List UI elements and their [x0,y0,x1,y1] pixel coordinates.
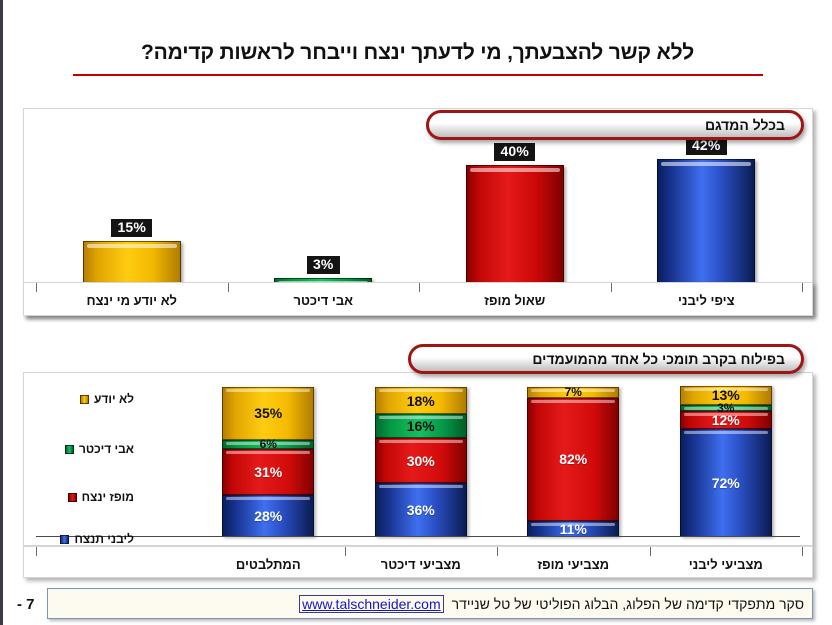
chart2-category-label: מצביעי מופז [497,557,650,572]
chart1-category-label: לא יודע מי ינצח [36,293,228,308]
chart2-stack-segment[interactable]: 82% [527,398,619,521]
banner-candidate-breakdown: בפילוח בקרב תומכי כל אחד מהמועמדים [408,344,804,374]
chart2-stack-segment[interactable]: 16% [375,414,467,438]
chart2-stack-segment[interactable]: 30% [375,438,467,483]
chart2-stack-segment[interactable]: 6% [222,440,314,449]
slide-canvas: ללא קשר להצבעתך, מי לדעתך ינצח וייבחר לר… [0,0,832,625]
chart2-category-axis: מצביעי ליבנימצביעי מופזמצביעי דיכטרהמתלב… [23,546,813,578]
title-underline-rule [73,74,763,76]
legend-item-label: מופז ינצח [82,490,134,504]
chart2-stack-segment[interactable]: 35% [222,387,314,440]
chart2-category-strip: מצביעי ליבנימצביעי מופזמצביעי דיכטרהמתלב… [24,547,812,577]
legend-item-green[interactable]: אבי דיכטר [65,442,134,456]
chart2-axis-tick [36,547,37,556]
chart2-stacked-column: 18%16%30%36% [375,387,467,537]
chart1-category-axis: ציפי ליבנישאול מופזאבי דיכטרלא יודע מי י… [23,282,813,316]
legend-item-label: לא יודע [94,392,134,406]
chart1-plot-area: 42%40%3%15% [36,119,800,287]
chart2-stack-segment[interactable]: 12% [680,411,772,429]
chart2-stack-segment[interactable]: 31% [222,449,314,496]
chart2-segment-value-label: 30% [407,454,435,468]
chart1-bar[interactable] [466,165,564,287]
chart2-axis-tick [345,547,346,556]
legend-swatch-red-icon [68,493,77,502]
page-title-text: ללא קשר להצבעתך, מי לדעתך ינצח וייבחר לר… [3,40,832,65]
legend-item-gold[interactable]: לא יודע [80,392,134,406]
chart2-segment-value-label: 35% [254,406,282,420]
chart2-category-label: המתלבטים [192,557,345,572]
page-title: ללא קשר להצבעתך, מי לדעתך ינצח וייבחר לר… [3,40,832,76]
chart-panel-breakdown: 13%3%12%72%7%82%11%18%16%30%36%35%6%31%2… [23,372,813,546]
chart2-plot-area: 13%3%12%72%7%82%11%18%16%30%36%35%6%31%2… [36,379,800,537]
chart2-axis-tick [802,547,803,556]
footer-source-text: סקר מתפקדי קדימה של הפלוג, הבלוג הפוליטי… [452,596,804,612]
chart1-column-group: 40% [419,143,611,287]
chart1-axis-tick [611,283,612,292]
legend-item-label: אבי דיכטר [79,442,134,456]
chart1-bar[interactable] [83,241,181,287]
chart2-stack-segment[interactable]: 11% [527,521,619,538]
banner-candidate-breakdown-label: בפילוח בקרב תומכי כל אחד מהמועמדים [532,351,785,367]
legend-swatch-green-icon [65,445,74,454]
chart2-segment-value-label: 6% [260,438,277,450]
chart1-axis-tick [419,283,420,292]
chart2-axis-tick [650,547,651,556]
chart2-axis-tick [497,547,498,556]
chart1-axis-tick [228,283,229,292]
chart2-stacked-column: 35%6%31%28% [222,387,314,537]
chart2-segment-value-label: 7% [565,386,582,398]
chart1-axis-tick [36,283,37,292]
chart1-bar[interactable] [657,159,755,287]
chart2-segment-value-label: 36% [407,503,435,517]
chart2-axis-line [36,536,800,537]
chart2-segment-value-label: 31% [254,465,282,479]
chart2-segment-value-label: 16% [407,419,435,433]
chart1-column-group: 42% [611,137,803,287]
banner-overall-sample: בכלל המדגם [426,110,804,140]
chart1-value-label: 3% [307,256,340,274]
banner-overall-sample-label: בכלל המדגם [705,117,785,133]
chart2-segment-value-label: 82% [559,452,587,466]
chart2-stacked-column: 7%82%11% [527,387,619,537]
page-number: - 7 [17,596,35,613]
legend-swatch-blue-icon [60,535,69,544]
chart2-legend: לא יודעאבי דיכטרמופז ינצחליבני תנצח [22,384,134,544]
chart2-stacked-column: 13%3%12%72% [680,386,772,538]
chart2-segment-value-label: 28% [254,509,282,523]
chart2-stack-segment[interactable]: 36% [375,483,467,537]
footer-website-link[interactable]: www.talschneider.com [299,595,444,613]
chart1-category-label: ציפי ליבני [611,293,803,308]
chart1-column-group: 15% [36,219,228,287]
chart1-value-label: 15% [111,219,152,237]
chart2-segment-value-label: 18% [407,394,435,408]
chart1-category-label: שאול מופז [419,293,611,308]
chart2-segment-value-label: 12% [712,413,740,427]
chart1-category-strip: ציפי ליבנישאול מופזאבי דיכטרלא יודע מי י… [24,283,812,315]
chart2-stack-segment[interactable]: 7% [527,387,619,398]
chart1-axis-tick [802,283,803,292]
chart2-stack-segment[interactable]: 28% [222,495,314,537]
chart2-category-label: מצביעי ליבני [650,557,803,572]
chart2-stack-segment[interactable]: 72% [680,429,772,537]
legend-item-blue[interactable]: ליבני תנצח [60,532,134,546]
legend-item-label: ליבני תנצח [74,532,134,546]
legend-item-red[interactable]: מופז ינצח [68,490,134,504]
chart1-category-label: אבי דיכטר [228,293,420,308]
chart2-category-label: מצביעי דיכטר [345,557,498,572]
chart2-segment-value-label: 72% [712,476,740,490]
footer-bar: סקר מתפקדי קדימה של הפלוג, הבלוג הפוליטי… [47,588,813,619]
chart2-segment-value-label: 11% [560,522,587,536]
chart1-value-label: 40% [494,143,535,161]
legend-swatch-gold-icon [80,395,89,404]
chart2-stack-segment[interactable]: 18% [375,387,467,414]
